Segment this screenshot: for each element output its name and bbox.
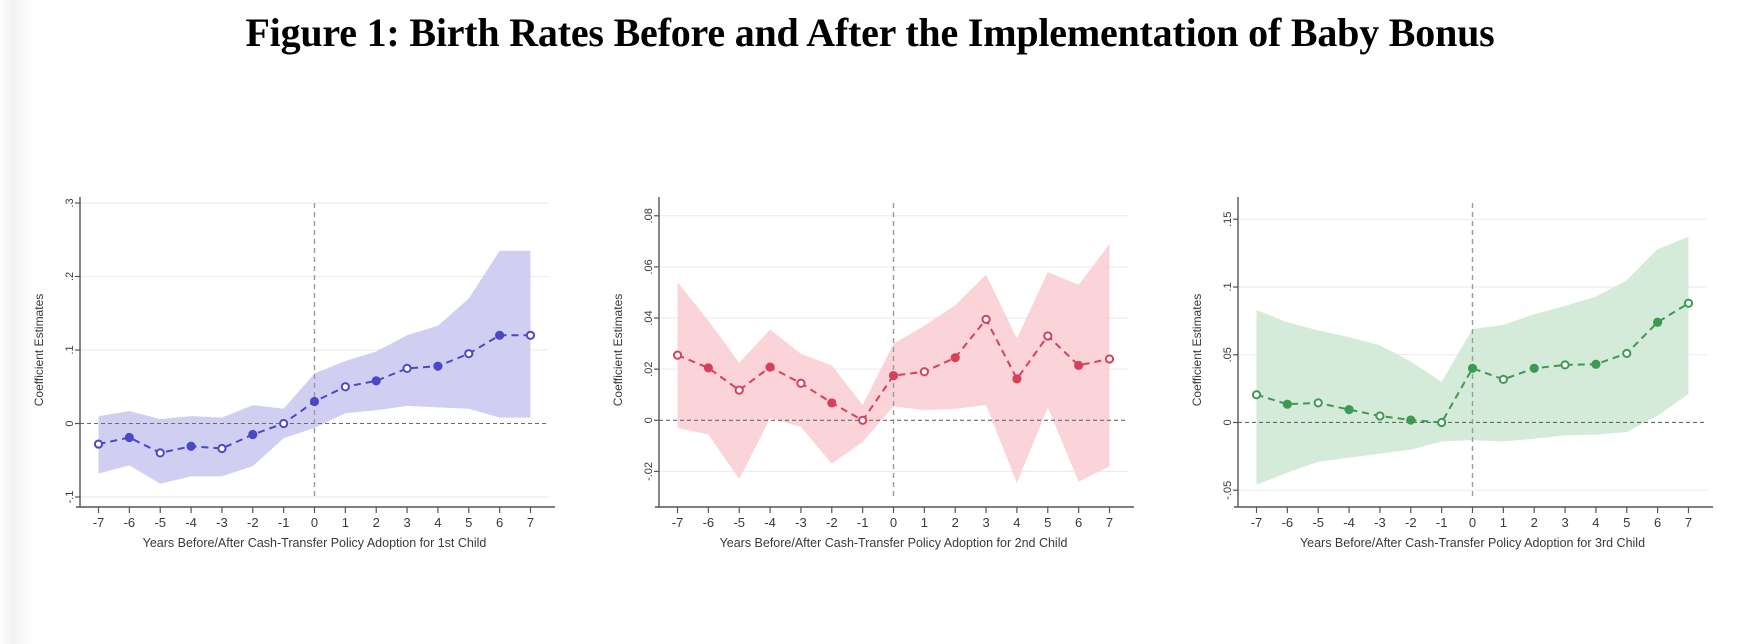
x-axis-tick-label: 6	[1654, 515, 1661, 530]
data-point-marker	[187, 443, 194, 450]
x-axis-title: Years Before/After Cash-Transfer Policy …	[720, 536, 1068, 550]
x-axis-tick-label: 6	[1075, 515, 1082, 530]
x-axis-tick-label: 5	[1623, 515, 1630, 530]
x-axis-tick-label: -7	[93, 515, 105, 530]
x-axis-tick-label: -4	[1343, 515, 1355, 530]
data-point-marker	[311, 398, 318, 405]
x-axis-title: Years Before/After Cash-Transfer Policy …	[143, 536, 487, 550]
y-axis-tick-label: .15	[1222, 212, 1234, 227]
data-point-marker	[527, 332, 534, 339]
data-point-marker	[465, 350, 472, 357]
x-axis-tick-label: 2	[1531, 515, 1538, 530]
x-axis-tick-label: -3	[1374, 515, 1386, 530]
panel-1-svg: .3.2.10-.1Coefficient Estimates-7-6-5-4-…	[0, 185, 579, 585]
figure-title: Figure 1: Birth Rates Before and After t…	[50, 8, 1690, 58]
data-point-marker	[95, 440, 102, 447]
x-axis-title: Years Before/After Cash-Transfer Policy …	[1300, 536, 1645, 550]
data-point-marker	[373, 377, 380, 384]
y-axis-tick-label: 0	[1222, 419, 1234, 425]
data-point-marker	[1531, 365, 1538, 372]
panel-3rd-child: .15.1.050-.05Coefficient Estimates-7-6-5…	[1158, 185, 1737, 585]
x-axis-tick-label: -3	[795, 515, 807, 530]
data-point-marker	[1315, 399, 1322, 406]
x-axis-tick-label: 7	[1106, 515, 1113, 530]
x-axis-tick-label: 5	[465, 515, 472, 530]
x-axis-tick-label: -5	[154, 515, 166, 530]
data-point-marker	[1561, 361, 1568, 368]
x-axis-tick-label: -1	[857, 515, 869, 530]
x-axis-tick-label: -1	[1436, 515, 1448, 530]
data-point-marker	[1407, 416, 1414, 423]
data-point-marker	[249, 431, 256, 438]
data-point-marker	[1469, 365, 1476, 372]
y-axis-tick-label: 0	[643, 417, 655, 423]
y-axis-title: Coefficient Estimates	[1190, 294, 1204, 407]
x-axis-tick-label: 1	[1500, 515, 1507, 530]
data-point-marker	[1438, 419, 1445, 426]
y-axis-tick-label: .2	[64, 272, 76, 281]
x-axis-tick-label: 1	[921, 515, 928, 530]
figure-panels: .3.2.10-.1Coefficient Estimates-7-6-5-4-…	[0, 185, 1738, 585]
data-point-marker	[1623, 350, 1630, 357]
data-point-marker	[890, 372, 897, 379]
x-axis-tick-label: 2	[952, 515, 959, 530]
x-axis-tick-label: 5	[1044, 515, 1051, 530]
y-axis-tick-label: .04	[643, 310, 655, 325]
x-axis-tick-label: -6	[124, 515, 136, 530]
x-axis-tick-label: 7	[1685, 515, 1692, 530]
x-axis-tick-label: -4	[764, 515, 776, 530]
panel-2nd-child: .08.06.04.020-.02Coefficient Estimates-7…	[579, 185, 1158, 585]
data-point-marker	[705, 364, 712, 371]
data-point-marker	[1685, 300, 1692, 307]
y-axis-tick-label: .05	[1222, 347, 1234, 362]
y-axis-tick-label: .3	[64, 198, 76, 207]
x-axis-tick-label: 4	[1592, 515, 1599, 530]
x-axis-tick-label: -5	[1312, 515, 1324, 530]
data-point-marker	[342, 383, 349, 390]
x-axis-tick-label: -7	[1251, 515, 1263, 530]
data-point-marker	[1075, 362, 1082, 369]
y-axis-title: Coefficient Estimates	[611, 294, 625, 407]
x-axis-tick-label: 3	[1561, 515, 1568, 530]
data-point-marker	[766, 364, 773, 371]
data-point-marker	[952, 354, 959, 361]
x-axis-tick-label: 0	[890, 515, 897, 530]
x-axis-tick-label: -5	[733, 515, 745, 530]
x-axis-tick-label: -6	[703, 515, 715, 530]
x-axis-tick-label: -4	[185, 515, 197, 530]
x-axis-tick-label: -2	[826, 515, 838, 530]
y-axis-tick-label: 0	[64, 420, 76, 426]
data-point-marker	[1654, 319, 1661, 326]
y-axis-tick-label: -.05	[1222, 481, 1234, 500]
data-point-marker	[859, 417, 866, 424]
x-axis-tick-label: -2	[247, 515, 259, 530]
y-axis-title: Coefficient Estimates	[32, 294, 46, 407]
data-point-marker	[1013, 375, 1020, 382]
y-axis-tick-label: -.1	[64, 491, 76, 504]
data-point-marker	[1106, 355, 1113, 362]
data-point-marker	[1500, 376, 1507, 383]
data-point-marker	[280, 420, 287, 427]
panel-1st-child: .3.2.10-.1Coefficient Estimates-7-6-5-4-…	[0, 185, 579, 585]
data-point-marker	[403, 365, 410, 372]
panel-2-svg: .08.06.04.020-.02Coefficient Estimates-7…	[579, 185, 1158, 585]
data-point-marker	[1253, 391, 1260, 398]
y-axis-tick-label: .02	[643, 362, 655, 377]
x-axis-tick-label: 3	[982, 515, 989, 530]
data-point-marker	[797, 380, 804, 387]
x-axis-tick-label: 4	[1013, 515, 1020, 530]
data-point-marker	[496, 332, 503, 339]
data-point-marker	[1044, 332, 1051, 339]
data-point-marker	[434, 363, 441, 370]
x-axis-tick-label: 4	[434, 515, 441, 530]
data-point-marker	[1376, 412, 1383, 419]
data-point-marker	[828, 399, 835, 406]
x-axis-tick-label: -1	[278, 515, 290, 530]
data-point-marker	[736, 387, 743, 394]
panel-3-svg: .15.1.050-.05Coefficient Estimates-7-6-5…	[1158, 185, 1737, 585]
y-axis-tick-label: .1	[1222, 282, 1234, 291]
data-point-marker	[218, 445, 225, 452]
data-point-marker	[126, 434, 133, 441]
x-axis-tick-label: 1	[342, 515, 349, 530]
y-axis-tick-label: .1	[64, 345, 76, 354]
x-axis-tick-label: -6	[1282, 515, 1294, 530]
data-point-marker	[157, 449, 164, 456]
x-axis-tick-label: 2	[373, 515, 380, 530]
data-point-marker	[1345, 406, 1352, 413]
x-axis-tick-label: 6	[496, 515, 503, 530]
data-point-marker	[674, 352, 681, 359]
x-axis-tick-label: 3	[403, 515, 410, 530]
data-point-marker	[1592, 361, 1599, 368]
x-axis-tick-label: -2	[1405, 515, 1417, 530]
data-point-marker	[1284, 401, 1291, 408]
data-point-marker	[982, 316, 989, 323]
y-axis-tick-label: -.02	[643, 462, 655, 481]
data-point-marker	[921, 368, 928, 375]
x-axis-tick-label: 0	[1469, 515, 1476, 530]
y-axis-tick-label: .08	[643, 208, 655, 223]
x-axis-tick-label: 0	[311, 515, 318, 530]
y-axis-tick-label: .06	[643, 259, 655, 274]
x-axis-tick-label: -3	[216, 515, 228, 530]
x-axis-tick-label: -7	[672, 515, 684, 530]
x-axis-tick-label: 7	[527, 515, 534, 530]
